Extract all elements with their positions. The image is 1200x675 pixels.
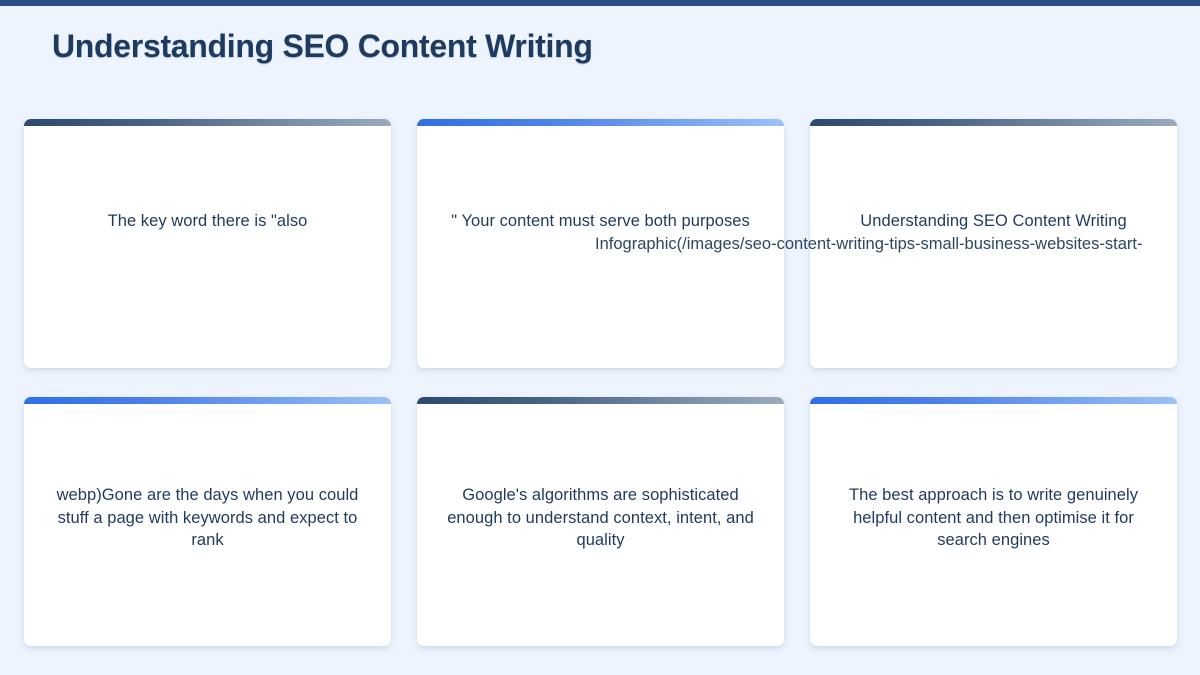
card-1[interactable]: The key word there is "also [24, 119, 391, 368]
page-title: Understanding SEO Content Writing [52, 28, 593, 65]
page-root: Understanding SEO Content Writing The ke… [0, 0, 1200, 675]
card-text: webp)Gone are the days when you could st… [46, 484, 369, 552]
top-accent-bar [0, 0, 1200, 6]
card-text: Understanding SEO Content Writing [860, 210, 1126, 233]
card-body: The best approach is to write genuinely … [810, 404, 1177, 646]
card-3[interactable]: Understanding SEO Content Writing [810, 119, 1177, 368]
card-6[interactable]: The best approach is to write genuinely … [810, 397, 1177, 646]
card-2[interactable]: " Your content must serve both purposes [417, 119, 784, 368]
card-body: Google's algorithms are sophisticated en… [417, 404, 784, 646]
card-grid: The key word there is "also " Your conte… [24, 119, 1176, 646]
card-text: The key word there is "also [108, 210, 308, 233]
card-5[interactable]: Google's algorithms are sophisticated en… [417, 397, 784, 646]
card-body: Understanding SEO Content Writing [810, 126, 1177, 368]
card-accent-bar [417, 397, 784, 404]
card-body: " Your content must serve both purposes [417, 126, 784, 368]
card-accent-bar [24, 397, 391, 404]
card-4[interactable]: webp)Gone are the days when you could st… [24, 397, 391, 646]
card-text: The best approach is to write genuinely … [832, 484, 1155, 552]
card-accent-bar [810, 397, 1177, 404]
card-body: The key word there is "also [24, 126, 391, 368]
card-accent-bar [24, 119, 391, 126]
card-accent-bar [417, 119, 784, 126]
card-text: " Your content must serve both purposes [451, 210, 750, 233]
card-accent-bar [810, 119, 1177, 126]
card-body: webp)Gone are the days when you could st… [24, 404, 391, 646]
card-text: Google's algorithms are sophisticated en… [439, 484, 762, 552]
